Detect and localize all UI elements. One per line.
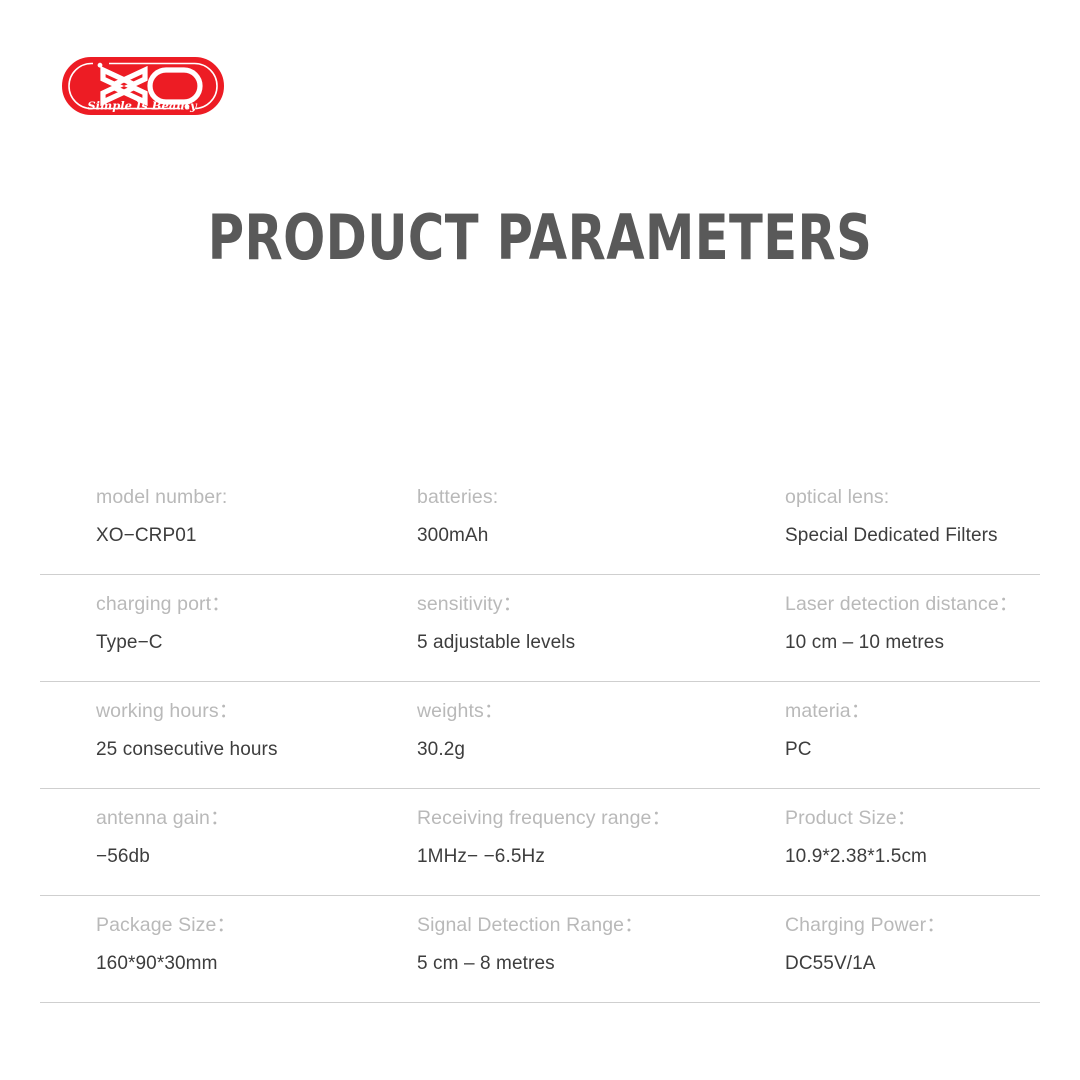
- page-title: PRODUCT PARAMETERS: [108, 207, 972, 269]
- brand-logo: Simple Is Beauty: [62, 57, 224, 115]
- spec-label: materia：: [785, 700, 1040, 722]
- spec-label: Laser detection distance：: [785, 593, 1040, 615]
- spec-cell: Product Size： 10.9*2.38*1.5cm: [741, 789, 1040, 895]
- table-row: charging port： Type−C sensitivity： 5 adj…: [40, 575, 1040, 682]
- spec-value: Special Dedicated Filters: [785, 525, 1040, 547]
- spec-cell: Charging Power： DC55V/1A: [741, 896, 1040, 1002]
- spec-cell: Package Size： 160*90*30mm: [40, 896, 378, 1002]
- spec-label: Receiving frequency range：: [417, 807, 741, 829]
- spec-label: working hours：: [96, 700, 378, 722]
- spec-label: Package Size：: [96, 914, 378, 936]
- spec-value: 5 cm – 8 metres: [417, 953, 741, 975]
- table-row: Package Size： 160*90*30mm Signal Detecti…: [40, 896, 1040, 1003]
- table-row: model number: XO−CRP01 batteries: 300mAh…: [40, 468, 1040, 575]
- spec-label: Charging Power：: [785, 914, 1040, 936]
- spec-cell: materia： PC: [741, 682, 1040, 788]
- spec-value: XO−CRP01: [96, 525, 378, 547]
- table-row: working hours： 25 consecutive hours weig…: [40, 682, 1040, 789]
- spec-value: DC55V/1A: [785, 953, 1040, 975]
- brand-tagline: Simple Is Beauty: [87, 99, 198, 113]
- spec-label: batteries:: [417, 486, 741, 508]
- spec-value: 10 cm – 10 metres: [785, 632, 1040, 654]
- spec-label: Product Size：: [785, 807, 1040, 829]
- xo-logo-icon: Simple Is Beauty: [62, 57, 224, 115]
- spec-value: 1MHz− −6.5Hz: [417, 846, 741, 868]
- spec-cell: model number: XO−CRP01: [40, 468, 378, 574]
- spec-cell: working hours： 25 consecutive hours: [40, 682, 378, 788]
- spec-label: charging port：: [96, 593, 378, 615]
- spec-value: 160*90*30mm: [96, 953, 378, 975]
- spec-cell: charging port： Type−C: [40, 575, 378, 681]
- product-parameters-table: model number: XO−CRP01 batteries: 300mAh…: [40, 468, 1040, 1003]
- table-row: antenna gain： −56db Receiving frequency …: [40, 789, 1040, 896]
- spec-cell: sensitivity： 5 adjustable levels: [378, 575, 741, 681]
- spec-cell: Signal Detection Range： 5 cm – 8 metres: [378, 896, 741, 1002]
- spec-value: Type−C: [96, 632, 378, 654]
- spec-cell: antenna gain： −56db: [40, 789, 378, 895]
- spec-value: 25 consecutive hours: [96, 739, 378, 761]
- spec-value: −56db: [96, 846, 378, 868]
- spec-label: weights：: [417, 700, 741, 722]
- spec-cell: weights： 30.2g: [378, 682, 741, 788]
- spec-label: optical lens:: [785, 486, 1040, 508]
- spec-value: 10.9*2.38*1.5cm: [785, 846, 1040, 868]
- spec-value: PC: [785, 739, 1040, 761]
- spec-cell: Laser detection distance： 10 cm – 10 met…: [741, 575, 1040, 681]
- spec-label: model number:: [96, 486, 378, 508]
- spec-label: antenna gain：: [96, 807, 378, 829]
- spec-cell: optical lens: Special Dedicated Filters: [741, 468, 1040, 574]
- spec-value: 30.2g: [417, 739, 741, 761]
- spec-value: 300mAh: [417, 525, 741, 547]
- spec-value: 5 adjustable levels: [417, 632, 741, 654]
- spec-cell: batteries: 300mAh: [378, 468, 741, 574]
- spec-label: Signal Detection Range：: [417, 914, 741, 936]
- spec-cell: Receiving frequency range： 1MHz− −6.5Hz: [378, 789, 741, 895]
- spec-label: sensitivity：: [417, 593, 741, 615]
